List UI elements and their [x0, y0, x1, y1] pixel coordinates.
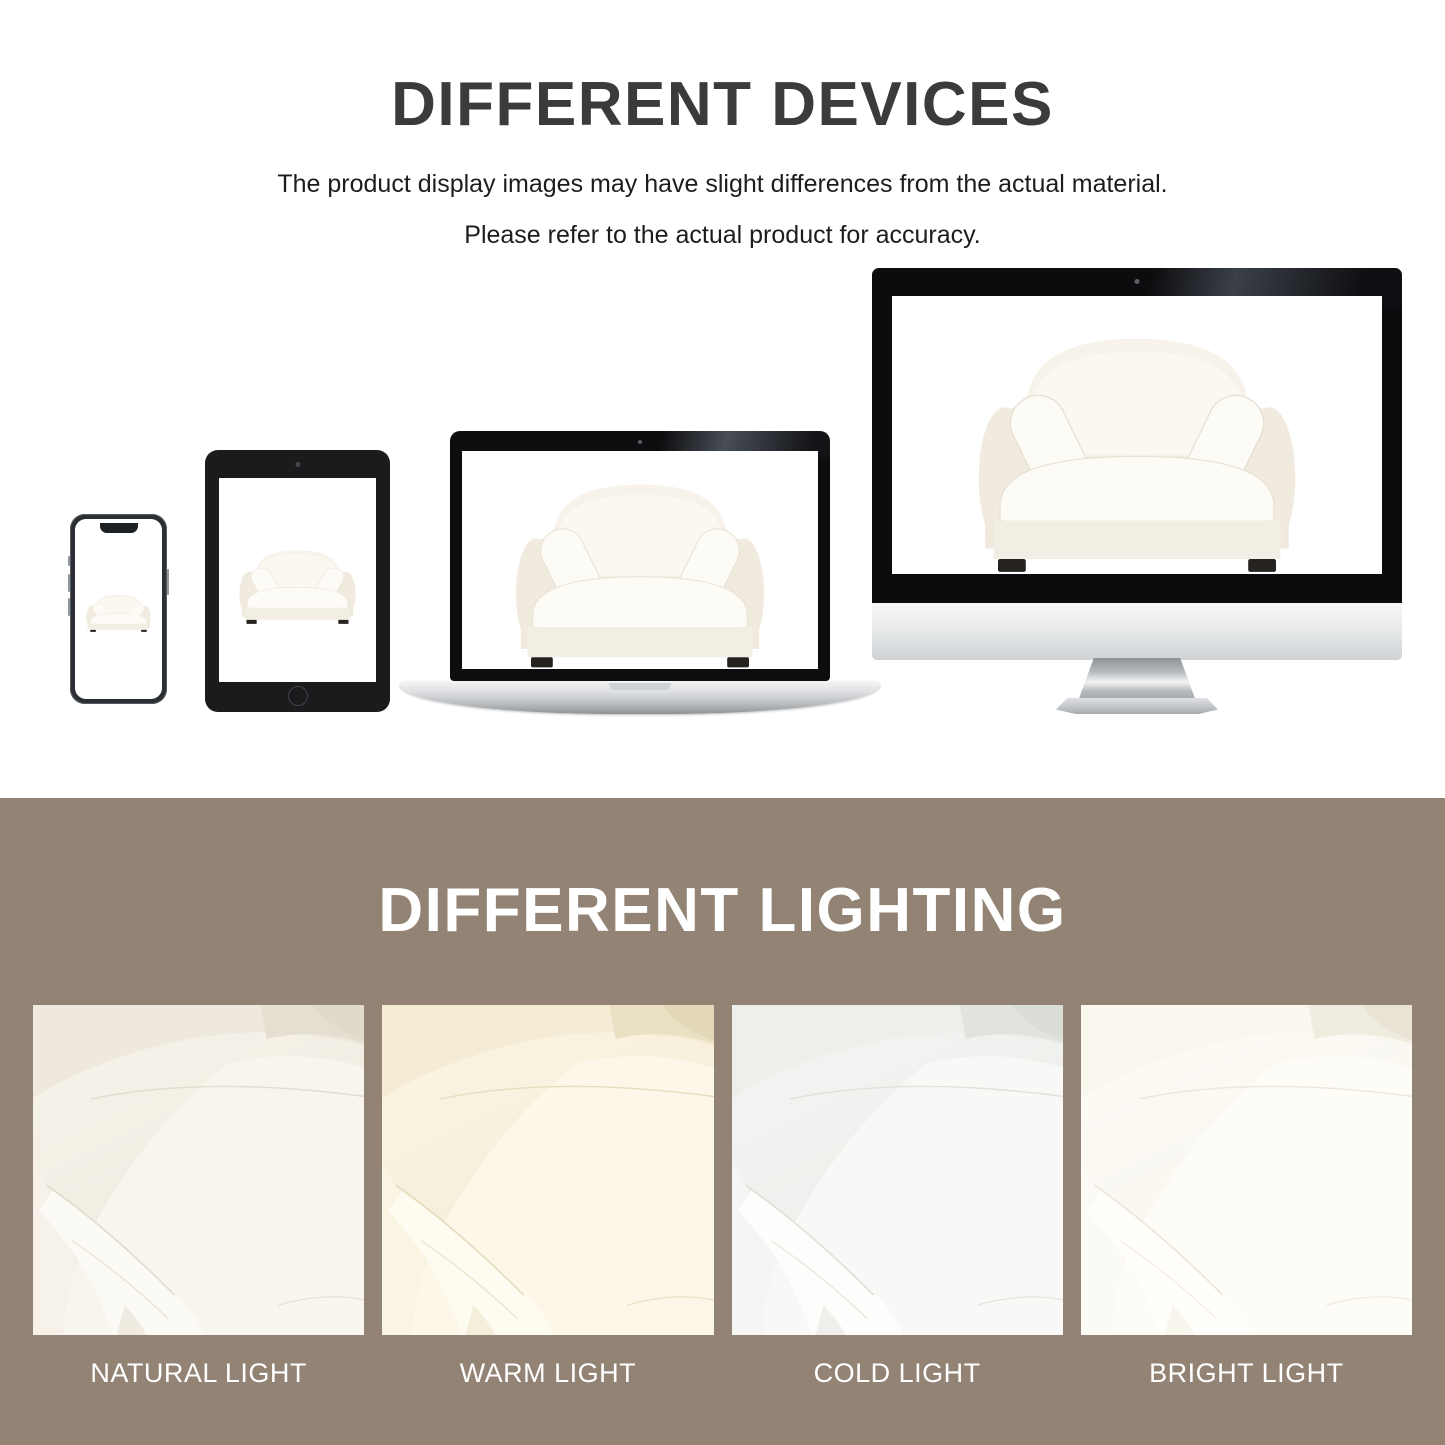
monitor-stand-neck — [1077, 658, 1197, 704]
laptop-base — [400, 681, 880, 714]
fabric-closeup-cold — [732, 1005, 1063, 1335]
monitor-chin — [872, 603, 1402, 660]
laptop-mockup — [400, 431, 880, 714]
laptop-lid — [450, 431, 830, 681]
sofa-product-image — [75, 519, 162, 699]
product-infographic: DIFFERENT DEVICES The product display im… — [0, 0, 1445, 1445]
lighting-label-row: NATURAL LIGHT WARM LIGHT COLD LIGHT BRIG… — [33, 1358, 1412, 1398]
monitor-stand-base — [1056, 698, 1218, 714]
fabric-closeup-warm — [382, 1005, 713, 1335]
laptop-screen — [462, 451, 818, 669]
monitor-webcam-icon — [1135, 279, 1140, 284]
lighting-label-warm: WARM LIGHT — [382, 1358, 713, 1398]
monitor-screen — [892, 296, 1382, 574]
devices-title: DIFFERENT DEVICES — [0, 69, 1445, 140]
desktop-monitor-mockup — [872, 268, 1402, 714]
laptop-trackpad-notch — [609, 683, 671, 690]
lighting-swatch-row — [33, 1005, 1412, 1335]
different-devices-section: DIFFERENT DEVICES The product display im… — [0, 0, 1445, 798]
tablet-front-camera-icon — [295, 462, 300, 467]
devices-subtitle-line-1: The product display images may have slig… — [0, 170, 1445, 199]
phone-volume-down-button — [68, 598, 70, 616]
phone-screen — [75, 519, 162, 699]
phone-notch — [100, 523, 138, 533]
phone-power-button — [167, 569, 169, 595]
fabric-closeup-natural — [33, 1005, 364, 1335]
lighting-label-bright: BRIGHT LIGHT — [1081, 1358, 1412, 1398]
tablet-home-button[interactable] — [288, 686, 308, 706]
fabric-closeup-bright — [1081, 1005, 1412, 1335]
monitor-bezel — [872, 268, 1402, 603]
sofa-product-image — [462, 451, 818, 669]
lighting-swatch-cold — [732, 1005, 1063, 1335]
tablet-mockup — [205, 450, 390, 712]
sofa-product-image — [219, 478, 376, 682]
tablet-screen — [219, 478, 376, 682]
device-mockup-stage — [0, 255, 1445, 735]
phone-silent-switch — [68, 556, 70, 566]
lighting-label-natural: NATURAL LIGHT — [33, 1358, 364, 1398]
lighting-swatch-warm — [382, 1005, 713, 1335]
lighting-swatch-natural — [33, 1005, 364, 1335]
different-lighting-section: DIFFERENT LIGHTING — [0, 798, 1445, 1445]
laptop-webcam-icon — [638, 440, 642, 444]
devices-subtitle-line-2: Please refer to the actual product for a… — [0, 221, 1445, 250]
lighting-label-cold: COLD LIGHT — [732, 1358, 1063, 1398]
sofa-product-image — [892, 296, 1382, 574]
phone-volume-up-button — [68, 574, 70, 592]
lighting-swatch-bright — [1081, 1005, 1412, 1335]
lighting-title: DIFFERENT LIGHTING — [0, 875, 1445, 946]
smartphone-mockup — [70, 514, 167, 704]
